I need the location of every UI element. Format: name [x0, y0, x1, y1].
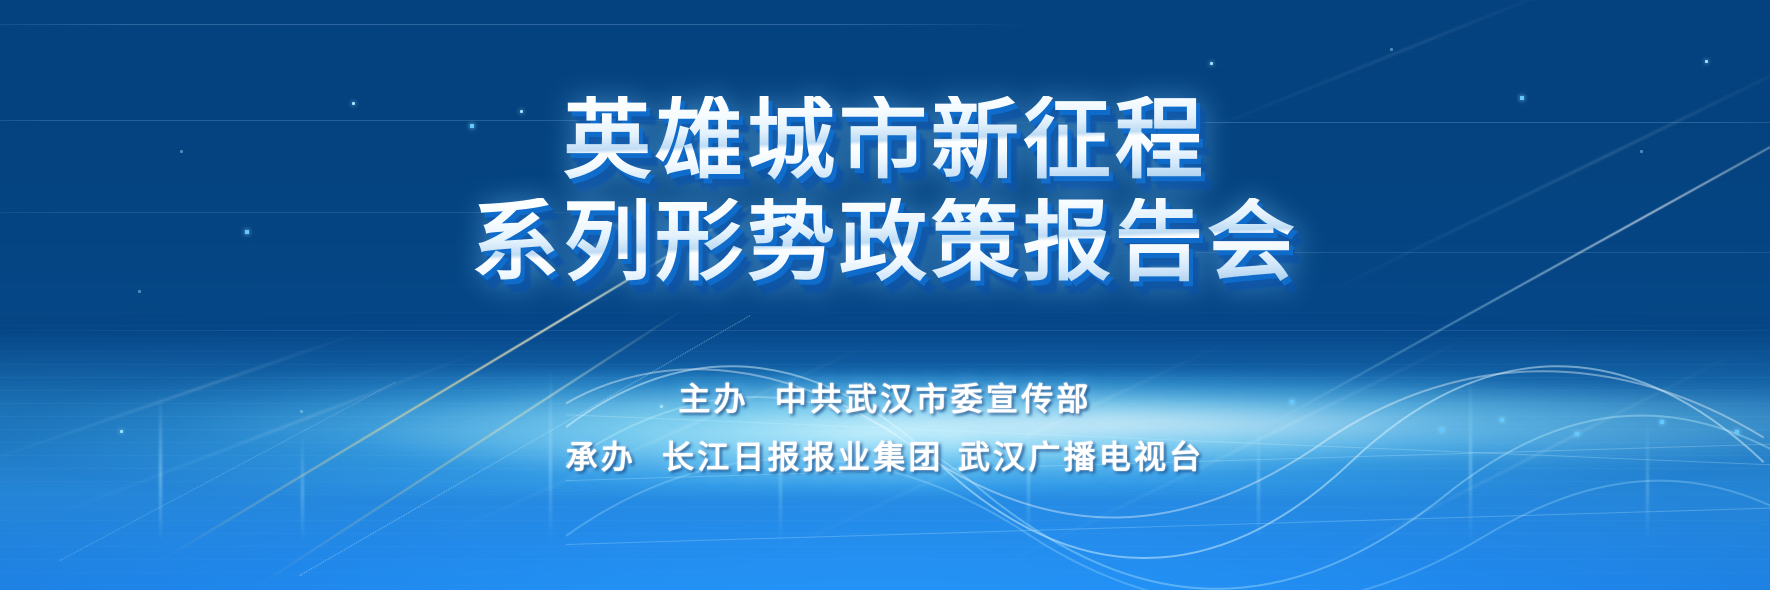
host-label: 主办	[678, 380, 748, 418]
decor-particle	[138, 290, 141, 293]
event-banner: 英雄城市新征程 系列形势政策报告会 主办中共武汉市委宣传部 承办长江日报报业集团…	[0, 0, 1770, 590]
host-value: 中共武汉市委宣传部	[775, 380, 1092, 418]
coorganizer-label: 承办	[566, 438, 636, 476]
decor-particle	[1210, 62, 1213, 65]
title-line-1: 英雄城市新征程	[563, 96, 1207, 184]
coorganizer-value: 长江日报报业集团 武汉广播电视台	[662, 438, 1204, 476]
title-line-2: 系列形势政策报告会	[471, 198, 1299, 286]
organizer-line-host: 主办中共武汉市委宣传部	[678, 374, 1091, 420]
organizer-line-coorganizer: 承办长江日报报业集团 武汉广播电视台	[566, 432, 1205, 478]
decor-particle	[1390, 48, 1393, 51]
decor-particle	[1705, 60, 1708, 63]
banner-title: 英雄城市新征程 系列形势政策报告会	[0, 96, 1770, 286]
organizer-block: 主办中共武汉市委宣传部 承办长江日报报业集团 武汉广播电视台	[0, 374, 1770, 478]
